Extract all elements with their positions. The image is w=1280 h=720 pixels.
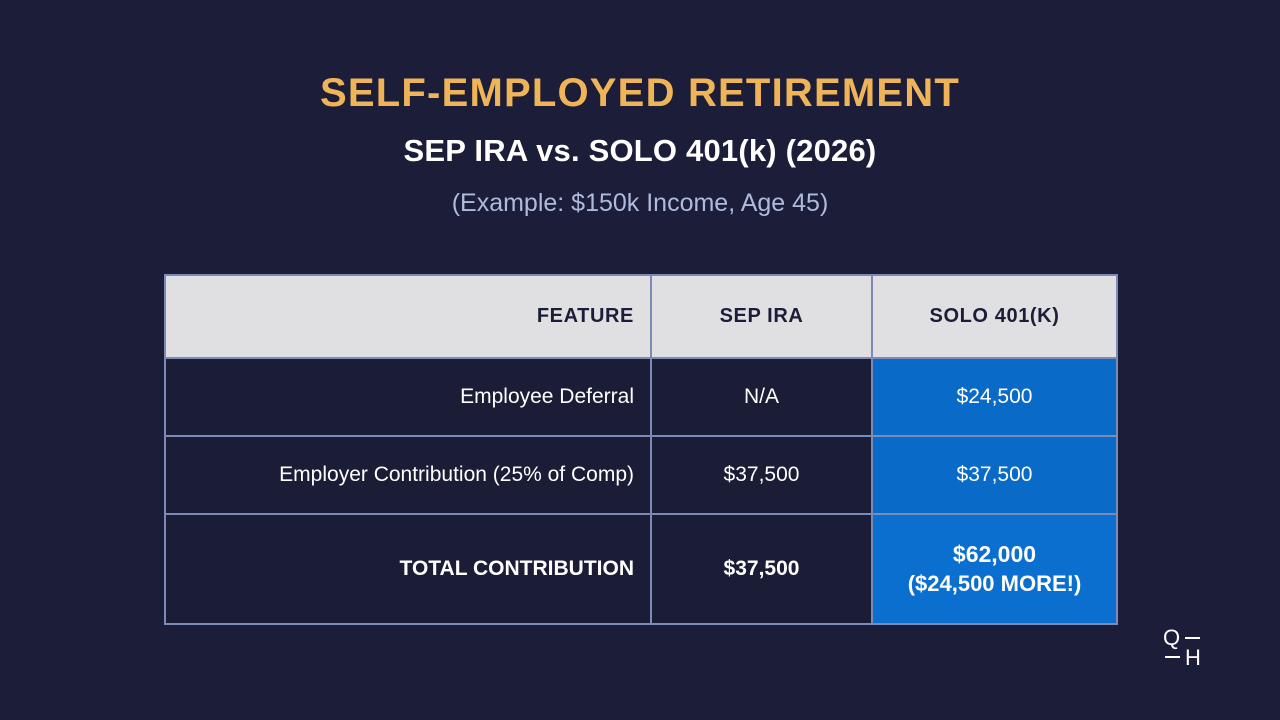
column-header-solo-401k: SOLO 401(K) xyxy=(872,275,1117,358)
cell-feature: Employee Deferral xyxy=(165,358,651,436)
column-header-feature: FEATURE xyxy=(165,275,651,358)
total-difference-note: ($24,500 MORE!) xyxy=(873,570,1116,598)
slide-header: SELF-EMPLOYED RETIREMENT SEP IRA vs. SOL… xyxy=(0,0,1280,217)
table-row: Employer Contribution (25% of Comp) $37,… xyxy=(165,436,1117,514)
table-body: Employee Deferral N/A $24,500 Employer C… xyxy=(165,358,1117,624)
page-subtitle: SEP IRA vs. SOLO 401(k) (2026) xyxy=(0,116,1280,169)
svg-text:Q: Q xyxy=(1163,626,1180,650)
cell-sep-ira-value: $37,500 xyxy=(651,436,872,514)
cell-feature-total: TOTAL CONTRIBUTION xyxy=(165,514,651,624)
column-header-sep-ira: SEP IRA xyxy=(651,275,872,358)
cell-sep-ira-total: $37,500 xyxy=(651,514,872,624)
cell-sep-ira-value: N/A xyxy=(651,358,872,436)
svg-text:H: H xyxy=(1185,645,1201,670)
cell-solo-401k-total: $62,000 ($24,500 MORE!) xyxy=(872,514,1117,624)
cell-feature: Employer Contribution (25% of Comp) xyxy=(165,436,651,514)
table-row-total: TOTAL CONTRIBUTION $37,500 $62,000 ($24,… xyxy=(165,514,1117,624)
table-row: Employee Deferral N/A $24,500 xyxy=(165,358,1117,436)
table-header: FEATURE SEP IRA SOLO 401(K) xyxy=(165,275,1117,358)
qh-monogram-icon: Q H xyxy=(1163,626,1219,676)
total-amount: $62,000 xyxy=(953,541,1036,567)
cell-solo-401k-value: $37,500 xyxy=(872,436,1117,514)
page-example-note: (Example: $150k Income, Age 45) xyxy=(0,169,1280,218)
table-header-row: FEATURE SEP IRA SOLO 401(K) xyxy=(165,275,1117,358)
cell-solo-401k-value: $24,500 xyxy=(872,358,1117,436)
comparison-table: FEATURE SEP IRA SOLO 401(K) Employee Def… xyxy=(164,274,1118,625)
page-title: SELF-EMPLOYED RETIREMENT xyxy=(0,0,1280,116)
qh-monogram-logo: Q H xyxy=(1163,626,1219,676)
